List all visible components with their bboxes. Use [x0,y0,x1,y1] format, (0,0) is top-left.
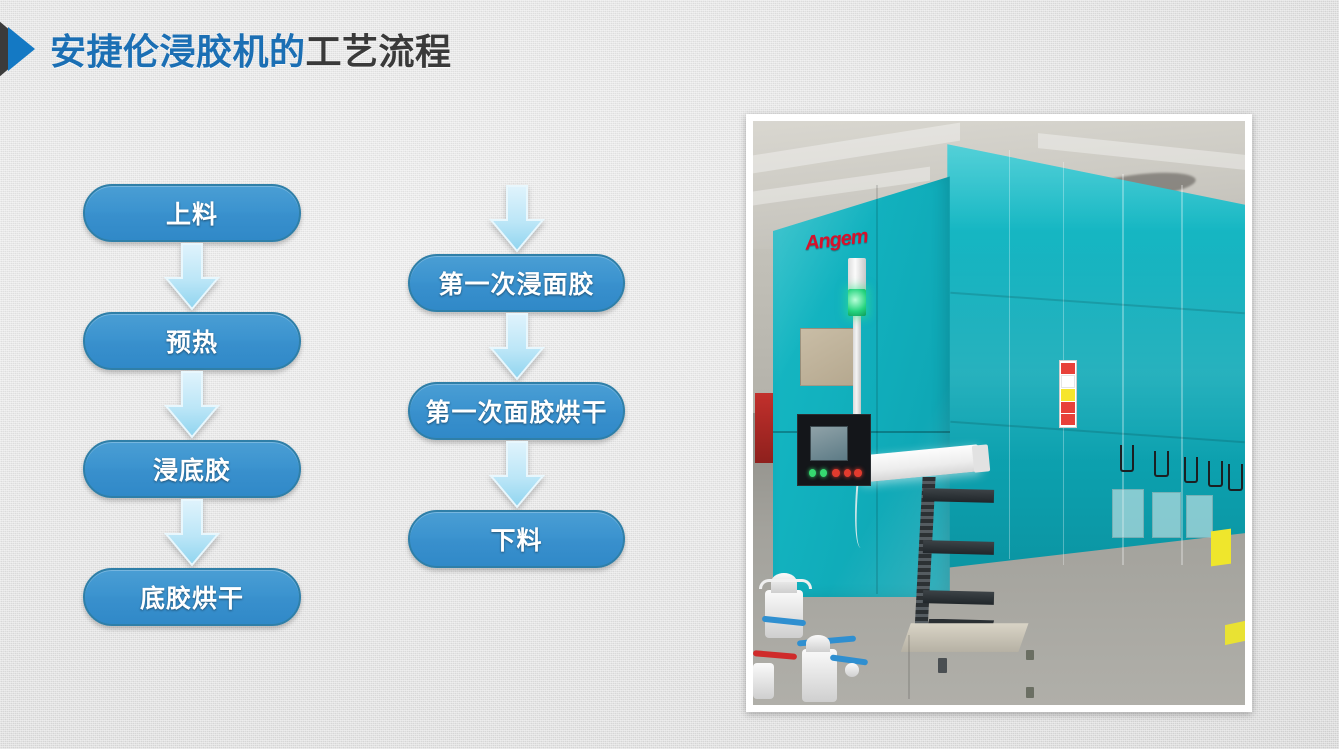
flow-step-dijiaohonggan[interactable]: 底胶烘干 [83,568,301,626]
flow-step-label: 预热 [166,323,218,359]
door-latch[interactable] [938,658,948,673]
flow-step-label: 浸底胶 [153,451,231,487]
flow-arrow-down-icon [486,312,548,382]
door-hinge [1026,650,1034,661]
flow-step-label: 第一次浸面胶 [438,265,594,301]
yellow-marker [1211,528,1231,566]
door-handle [1120,445,1135,472]
stack-light-green-icon [848,289,866,316]
work-lamp-cap [972,444,990,472]
lift-rail [923,541,995,556]
door-handle [1184,457,1199,484]
flow-step-label: 底胶烘干 [140,579,244,615]
flow-step-xialiao[interactable]: 下料 [408,510,625,568]
pressure-pot [765,590,803,638]
control-button-red[interactable] [844,469,851,477]
flow-step-label: 下料 [490,521,542,557]
door-handle [1228,464,1243,491]
flow-step-diyici-jinmianjiao[interactable]: 第一次浸面胶 [408,254,625,312]
panel-seam [1009,150,1011,559]
warning-band-white [1061,375,1075,388]
inspection-window [1152,492,1181,538]
hmi-screen[interactable] [810,426,849,461]
process-flowchart: 上料 预热 [0,0,720,749]
panel-seam [1181,185,1183,565]
name-plate [800,328,856,385]
flow-column-1: 上料 预热 [83,184,301,626]
emergency-stop-button[interactable] [854,469,861,477]
safety-warning-label [1059,360,1077,427]
warning-band-red [1061,414,1075,425]
pneumatic-equipment [753,565,901,705]
machine-photo-frame: Angem [746,114,1252,712]
flow-step-label: 上料 [166,195,218,231]
control-box [753,663,774,699]
flow-column-2: 第一次浸面胶 第一次面胶烘干 下料 [408,184,625,568]
cabinet-door-seam [908,635,1028,699]
flow-arrow-down-icon [161,242,223,312]
lift-rail [923,590,995,605]
door-handle [1154,451,1169,478]
flow-step-jindijiao[interactable]: 浸底胶 [83,440,301,498]
pot-lid [806,635,830,652]
warning-band-yellow [1061,389,1075,400]
flow-step-yure[interactable]: 预热 [83,312,301,370]
flow-arrow-down-icon [161,370,223,440]
flow-step-diyici-mianjiao-honggan[interactable]: 第一次面胶烘干 [408,382,625,440]
flow-arrow-down-icon [486,184,548,254]
flow-step-label: 第一次面胶烘干 [425,393,607,429]
warning-band-red [1061,402,1075,413]
pressure-gauge [845,663,860,677]
lift-rail [923,488,995,503]
control-button-red[interactable] [832,469,839,477]
inspection-window [1112,489,1144,538]
machine-photo: Angem [753,121,1245,705]
flow-arrow-down-icon [486,440,548,510]
slide-canvas: 安捷伦浸胶机的工艺流程 上料 [0,0,1339,749]
flow-step-shangliao[interactable]: 上料 [83,184,301,242]
door-handle [1208,461,1223,488]
flow-arrow-down-icon [161,498,223,568]
handle-bar [759,579,812,589]
door-hinge [1026,687,1034,698]
inspection-window [1186,495,1213,538]
warning-band-red [1061,363,1075,374]
red-hose [753,650,797,659]
